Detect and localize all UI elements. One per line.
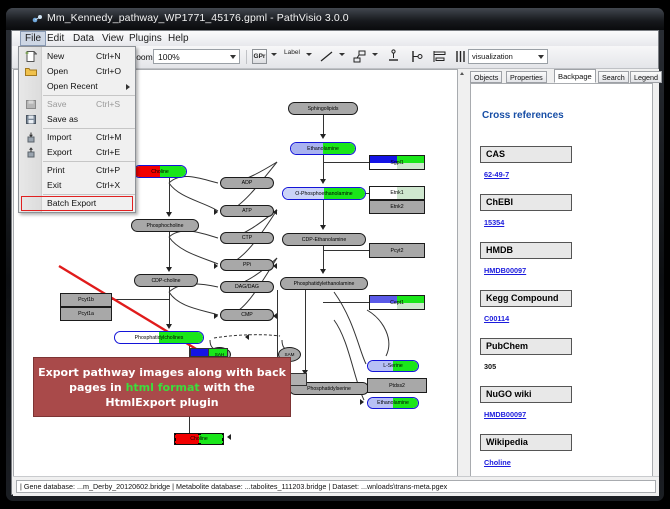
file-menu-accel-open: Ctrl+O: [96, 66, 121, 76]
xref-value-cas[interactable]: 62-49-7: [484, 170, 509, 179]
reaction-anchor[interactable]: [290, 373, 307, 386]
gene-product-dropdown-arrow[interactable]: [271, 53, 277, 56]
callout-line-2-a: pages in: [69, 381, 125, 394]
application-window: Mm_Kennedy_pathway_WP1771_45176.gpml - P…: [6, 8, 664, 501]
callout-html-format: html format: [126, 381, 200, 394]
xref-value-hmdb[interactable]: HMDB00097: [484, 266, 526, 275]
arrow-icon: [166, 324, 172, 329]
line-tool-icon[interactable]: [319, 49, 334, 64]
visualization-value: visualization: [472, 52, 513, 61]
edge: [323, 162, 369, 163]
import-icon: [25, 132, 37, 143]
tab-objects[interactable]: Objects: [470, 71, 502, 83]
arrow-icon: [245, 334, 249, 340]
tab-search[interactable]: Search: [598, 71, 629, 83]
tab-backpage[interactable]: Backpage: [554, 69, 596, 83]
arrow-icon: [360, 399, 364, 405]
arrow-icon: [320, 225, 326, 230]
xref-value-nugo[interactable]: HMDB00097: [484, 410, 526, 419]
node-ethanolamine[interactable]: Ethanolamine: [290, 142, 356, 155]
xref-label-chebi: ChEBI: [480, 194, 572, 211]
node-adp[interactable]: ADP: [220, 177, 274, 189]
align-center-icon[interactable]: [432, 49, 447, 64]
file-menu-label-print: Print: [47, 165, 65, 175]
file-menu-item-export[interactable]: Export Ctrl+E: [20, 145, 136, 160]
window-title: Mm_Kennedy_pathway_WP1771_45176.gpml - P…: [47, 12, 349, 24]
panel-splitter[interactable]: [459, 69, 466, 494]
shape-dropdown-arrow[interactable]: [372, 53, 378, 56]
file-menu-label-open: Open: [47, 66, 68, 76]
arrow-icon: [227, 434, 231, 440]
file-menu-separator: [43, 161, 135, 162]
arrow-icon: [320, 179, 326, 184]
xref-value-pubchem: 305: [484, 362, 496, 371]
toolbar-separator: [246, 50, 247, 64]
gene-pcyt2[interactable]: Pcyt2: [369, 243, 425, 258]
align-left-icon[interactable]: [410, 49, 425, 64]
file-menu-item-save[interactable]: Save Ctrl+S: [20, 97, 136, 112]
xref-value-wikipedia[interactable]: Choline: [484, 458, 511, 467]
arrow-icon: [320, 134, 326, 139]
edge: [305, 290, 306, 380]
edge: [323, 302, 369, 303]
xref-label-pubchem: PubChem: [480, 338, 572, 355]
file-menu-accel-print: Ctrl+P: [96, 165, 120, 175]
zoom-combobox[interactable]: 100%: [153, 49, 240, 64]
menu-plugins[interactable]: Plugins: [125, 32, 166, 45]
menu-bar: File Edit Data View Plugins Help: [12, 31, 658, 47]
gene-etnk1[interactable]: Etnk1: [369, 186, 425, 200]
selection-handle[interactable]: [222, 443, 224, 445]
node-ppi[interactable]: PPi: [220, 259, 274, 271]
chevron-down-icon: [538, 55, 544, 59]
file-menu-accel-exit: Ctrl+X: [96, 180, 120, 190]
menu-edit[interactable]: Edit: [43, 32, 68, 45]
chevron-down-icon: [230, 55, 236, 59]
edge: [169, 232, 170, 268]
xref-label-nugo: NuGO wiki: [480, 386, 572, 403]
arrow-icon: [166, 212, 172, 217]
menu-help[interactable]: Help: [164, 32, 193, 45]
node-phosphocholine[interactable]: Phosphocholine: [131, 219, 199, 232]
file-menu-item-save-as[interactable]: Save as: [20, 112, 136, 127]
file-menu-accel-import: Ctrl+M: [96, 132, 122, 142]
file-menu-separator: [43, 128, 135, 129]
node-ctp[interactable]: CTP: [220, 232, 274, 244]
arrow-icon: [214, 313, 218, 319]
file-menu-label-export: Export: [47, 147, 72, 157]
data-node-marker: [190, 348, 210, 357]
gene-pcyt1a[interactable]: Pcyt1a: [60, 307, 112, 321]
edge: [323, 250, 369, 251]
edge: [323, 115, 324, 136]
node-cdp-choline[interactable]: CDP-choline: [134, 274, 198, 287]
file-menu-label-exit: Exit: [47, 180, 61, 190]
file-menu-item-import[interactable]: Import Ctrl+M: [20, 130, 136, 145]
cross-references-heading: Cross references: [482, 110, 564, 121]
gene-product-icon: GPr: [252, 49, 267, 64]
save-disk-icon: [25, 99, 37, 110]
file-menu-separator: [43, 194, 135, 195]
annotation-callout: Export pathway images along with back pa…: [33, 357, 291, 417]
arrow-icon: [320, 269, 326, 274]
file-menu-separator: [43, 95, 135, 96]
node-choline[interactable]: Choline: [133, 165, 187, 178]
node-dag[interactable]: DAG/DAG: [220, 281, 274, 293]
file-menu-item-new[interactable]: New Ctrl+N: [20, 49, 136, 64]
node-cmp[interactable]: CMP: [220, 309, 274, 321]
shape-tool-icon[interactable]: [352, 49, 367, 64]
node-phosphatidylcholines[interactable]: Phosphatidylcholines: [114, 331, 204, 344]
file-menu-label-save-as: Save as: [47, 114, 78, 124]
file-menu-item-print[interactable]: Print Ctrl+P: [20, 163, 136, 178]
file-menu-item-open[interactable]: Open Ctrl+O: [20, 64, 136, 79]
panel-tab-strip: Objects Properties Backpage Search Legen…: [466, 69, 659, 83]
gene-ptdss2[interactable]: Ptdss2: [367, 378, 427, 393]
node-sphingolipids[interactable]: Sphingolipids: [288, 102, 358, 115]
file-menu-label-import: Import: [47, 132, 71, 142]
edge: [323, 200, 324, 227]
align-top-icon[interactable]: [386, 49, 401, 64]
arrow-icon: [214, 263, 218, 269]
file-menu-accel-save: Ctrl+S: [96, 99, 120, 109]
node-cdp-ethanolamine[interactable]: CDP-Ethanolamine: [282, 233, 366, 246]
edge: [169, 287, 170, 325]
side-panel: Objects Properties Backpage Search Legen…: [466, 69, 659, 494]
submenu-arrow-icon: [126, 84, 130, 90]
xref-label-cas: CAS: [480, 146, 572, 163]
batch-export-highlight: [21, 196, 133, 211]
file-menu-label-save: Save: [47, 99, 67, 109]
arrow-icon: [166, 267, 172, 272]
node-atp[interactable]: ATP: [220, 205, 274, 217]
file-menu-accel-export: Ctrl+E: [96, 147, 120, 157]
callout-line-2: pages in html format with the: [69, 380, 255, 395]
edge: [169, 178, 170, 214]
callout-line-2-b: with the: [200, 381, 255, 394]
pathvisio-icon: [32, 13, 43, 24]
menu-view[interactable]: View: [98, 32, 128, 45]
gene-cept1[interactable]: Cept1: [369, 295, 425, 310]
open-folder-icon: [25, 66, 37, 77]
xref-label-wikipedia: Wikipedia: [480, 434, 572, 451]
gene-etnk2[interactable]: Etnk2: [369, 200, 425, 214]
export-icon: [25, 147, 37, 158]
save-as-disk-icon: [25, 114, 37, 125]
file-menu-accel-new: Ctrl+N: [96, 51, 121, 61]
line-dropdown-arrow[interactable]: [339, 53, 345, 56]
arrow-icon: [214, 209, 218, 215]
title-bar: Mm_Kennedy_pathway_WP1771_45176.gpml - P…: [6, 8, 664, 30]
file-menu-popup[interactable]: New Ctrl+N Open Ctrl+O Open Recent: [18, 46, 136, 213]
visualization-combobox[interactable]: visualization: [468, 49, 548, 64]
edge: [110, 299, 169, 300]
node-l-serine[interactable]: L-Serine: [367, 360, 419, 372]
selection-handle[interactable]: [174, 433, 176, 435]
edge: [323, 155, 324, 181]
selection-handle[interactable]: [198, 443, 201, 445]
zoom-value: 100%: [158, 52, 180, 62]
status-bar: | Gene database: ...m_Derby_20120602.bri…: [13, 476, 659, 496]
status-text: | Gene database: ...m_Derby_20120602.bri…: [16, 480, 656, 493]
selection-handle[interactable]: [222, 433, 224, 435]
selection-handle[interactable]: [174, 443, 176, 445]
node-o-phosphoethanolamine[interactable]: O-Phosphoethanolamine: [282, 187, 366, 200]
node-phosphatidylethanolamine[interactable]: Phosphatidylethanolamine: [280, 277, 368, 290]
splitter-collapse-up-icon[interactable]: [460, 71, 465, 77]
xref-label-kegg: Kegg Compound: [480, 290, 572, 307]
tab-properties[interactable]: Properties: [506, 71, 547, 83]
xref-label-hmdb: HMDB: [480, 242, 572, 259]
callout-line-1: Export pathway images along with back: [38, 365, 286, 380]
gene-sgpl1[interactable]: Sgpl1: [369, 155, 425, 170]
menu-data[interactable]: Data: [69, 32, 98, 45]
distribute-icon[interactable]: [453, 49, 468, 64]
label-dropdown-arrow[interactable]: [306, 53, 312, 56]
screenshot-frame: Mm_Kennedy_pathway_WP1771_45176.gpml - P…: [0, 0, 670, 509]
file-menu-label-open-recent: Open Recent: [47, 81, 98, 91]
selection-handle[interactable]: [222, 438, 224, 441]
file-menu-label-new: New: [47, 51, 64, 61]
gene-pcyt1b[interactable]: Pcyt1b: [60, 293, 112, 307]
xref-value-kegg[interactable]: C00114: [484, 314, 509, 323]
node-choline-selected[interactable]: Choline: [174, 433, 224, 445]
label-button-text[interactable]: Label: [284, 49, 300, 56]
selection-handle[interactable]: [174, 438, 176, 441]
new-document-icon: [25, 51, 37, 62]
callout-line-3: HtmlExport plugin: [105, 395, 218, 410]
node-ethanolamine-2[interactable]: Ethanolamine: [367, 397, 419, 409]
tab-legend[interactable]: Legend: [630, 71, 662, 83]
backpage-content: Cross references CAS 62-49-7 ChEBI 15354…: [470, 83, 653, 492]
file-menu-item-open-recent[interactable]: Open Recent: [20, 79, 136, 94]
xref-value-chebi[interactable]: 15354: [484, 218, 504, 227]
client-area: File Edit Data View Plugins Help Zoom: 1…: [11, 30, 659, 495]
file-menu-item-exit[interactable]: Exit Ctrl+X: [20, 178, 136, 193]
